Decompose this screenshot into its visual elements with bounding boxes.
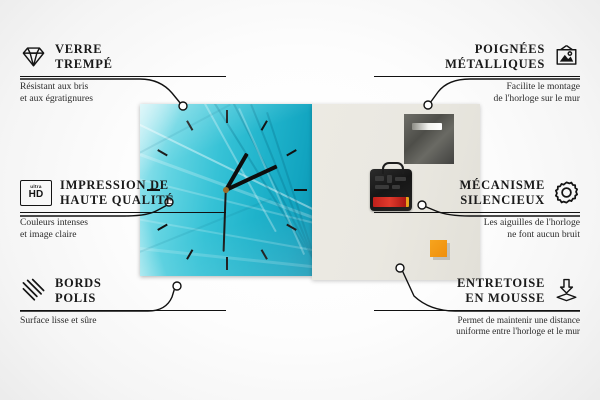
polished-edges-icon: [20, 277, 47, 304]
feature-subtitle: Les aiguilles de l'horloge ne font aucun…: [374, 217, 580, 242]
feature-divider: [374, 212, 580, 213]
feature-divider: [20, 310, 226, 311]
ultra-hd-badge-icon: ultra HD: [20, 180, 52, 206]
feature-title: IMPRESSION DE HAUTE QUALITÉ: [60, 178, 174, 208]
feature-header: ENTRETOISE EN MOUSSE: [374, 276, 580, 306]
feature-subtitle: Permet de maintenir une distance uniform…: [374, 315, 580, 339]
feature-title: BORDS POLIS: [55, 276, 102, 306]
feature-header: POIGNÉES MÉTALLIQUES: [374, 42, 580, 72]
feature-mecanisme-silencieux[interactable]: MÉCANISME SILENCIEUX Les aiguilles de l'…: [374, 178, 580, 241]
foam-spacer-arrow-icon: [553, 277, 580, 304]
feature-subtitle: Surface lisse et sûre: [20, 315, 226, 327]
feature-subtitle: Facilite le montage de l'horloge sur le …: [374, 81, 580, 106]
feature-title: POIGNÉES MÉTALLIQUES: [445, 42, 545, 72]
feature-entretoise-en-mousse[interactable]: ENTRETOISE EN MOUSSE Permet de maintenir…: [374, 276, 580, 338]
infographic-canvas: VERRE TREMPÉ Résistant aux bris et aux é…: [0, 0, 600, 400]
feature-subtitle: Couleurs intenses et image claire: [20, 217, 226, 242]
badge-hd-text: HD: [29, 190, 44, 200]
feature-impression-haute-qualite[interactable]: ultra HD IMPRESSION DE HAUTE QUALITÉ Cou…: [20, 178, 226, 241]
gear-icon: [553, 179, 580, 206]
feature-divider: [374, 76, 580, 77]
feature-divider: [20, 76, 226, 77]
feature-title: MÉCANISME SILENCIEUX: [460, 178, 545, 208]
feature-divider: [374, 310, 580, 311]
feature-header: MÉCANISME SILENCIEUX: [374, 178, 580, 208]
feature-title: ENTRETOISE EN MOUSSE: [457, 276, 545, 306]
feature-divider: [20, 212, 226, 213]
feature-subtitle: Résistant aux bris et aux égratignures: [20, 81, 226, 106]
feature-poignees-metalliques[interactable]: POIGNÉES MÉTALLIQUES Facilite le montage…: [374, 42, 580, 105]
feature-header: ultra HD IMPRESSION DE HAUTE QUALITÉ: [20, 178, 226, 208]
feature-header: VERRE TREMPÉ: [20, 42, 226, 72]
feature-verre-trempe[interactable]: VERRE TREMPÉ Résistant aux bris et aux é…: [20, 42, 226, 105]
feature-bords-polis[interactable]: BORDS POLIS Surface lisse et sûre: [20, 276, 226, 327]
feature-title: VERRE TREMPÉ: [55, 42, 113, 72]
diamond-icon: [20, 43, 47, 70]
hanging-frame-icon: [553, 43, 580, 70]
feature-header: BORDS POLIS: [20, 276, 226, 306]
